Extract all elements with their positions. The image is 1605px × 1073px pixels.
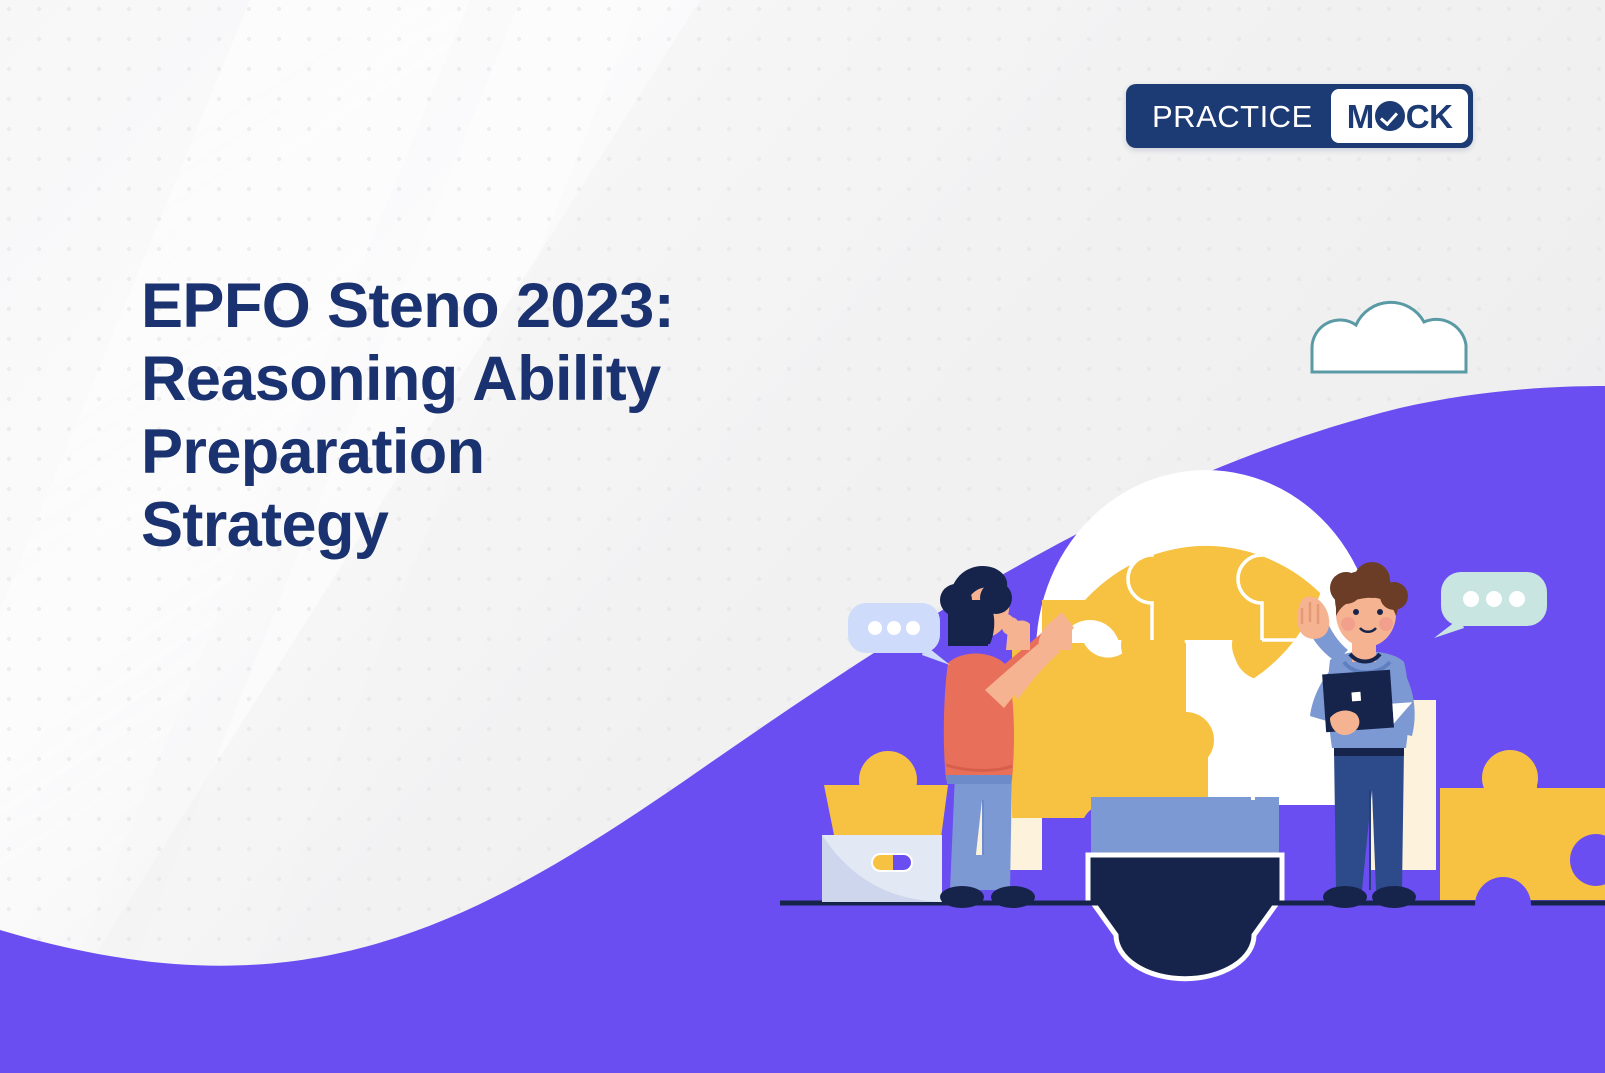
banner-canvas: PRACTICE MCK EPFO Steno 2023: Reasoning … [0, 0, 1605, 1073]
logo-mock-ck: CK [1406, 100, 1453, 133]
logo-practice-text: PRACTICE [1126, 84, 1331, 148]
practicemock-logo[interactable]: PRACTICE MCK [1126, 84, 1473, 148]
page-title: EPFO Steno 2023: Reasoning Ability Prepa… [141, 270, 861, 562]
logo-mock-box: MCK [1331, 89, 1469, 143]
box-label-pill [872, 854, 912, 871]
logo-mock-m: M [1347, 100, 1374, 133]
check-icon [1375, 101, 1405, 131]
logo-mock-text: MCK [1347, 100, 1453, 133]
